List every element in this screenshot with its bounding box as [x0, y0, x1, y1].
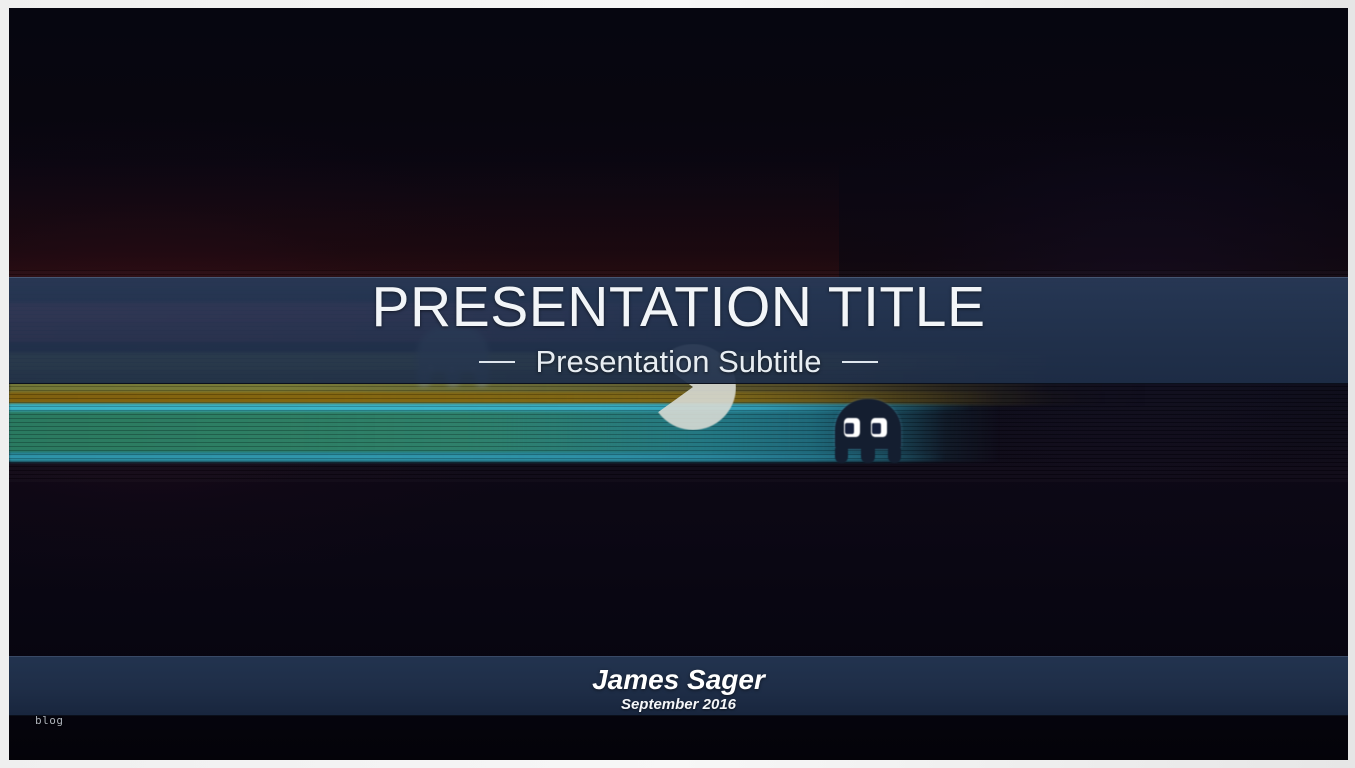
corner-watermark: blog	[35, 714, 64, 727]
ghost-pupil-left	[845, 423, 854, 433]
author-name[interactable]: James Sager	[9, 664, 1348, 696]
ghost-eye-right	[871, 418, 887, 437]
background-glow-top	[9, 158, 839, 288]
ghost-foot-gap	[848, 448, 861, 463]
ghost-eye-left	[844, 418, 860, 437]
subtitle-dash-left	[479, 361, 515, 363]
ghost-feet	[835, 448, 901, 463]
slide-frame: PRESENTATION TITLE Presentation Subtitle…	[0, 0, 1355, 768]
presentation-slide: PRESENTATION TITLE Presentation Subtitle…	[9, 8, 1348, 760]
ghost-foot	[861, 448, 874, 463]
ghost-pupil-right	[872, 423, 881, 433]
ghost-foot-gap	[875, 448, 888, 463]
ghost-foot	[835, 448, 848, 463]
author-date[interactable]: September 2016	[9, 696, 1348, 713]
streak-cyan-bottom	[9, 454, 1348, 460]
ghost-foot	[888, 448, 901, 463]
subtitle-row: Presentation Subtitle	[9, 344, 1348, 380]
page-subtitle[interactable]: Presentation Subtitle	[535, 344, 821, 380]
ghost-sprite-frightened	[835, 399, 901, 463]
subtitle-dash-right	[842, 361, 878, 363]
page-title[interactable]: PRESENTATION TITLE	[9, 277, 1348, 336]
